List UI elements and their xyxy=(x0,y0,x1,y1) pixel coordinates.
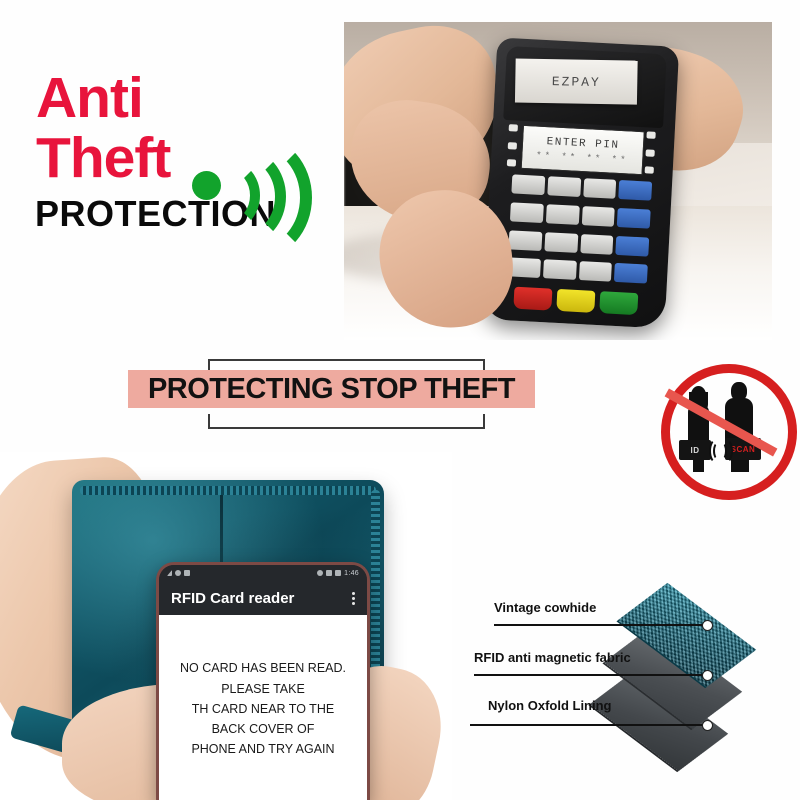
wallet-zipper-top xyxy=(80,486,376,495)
id-bag: ID xyxy=(679,440,711,460)
signal-icon xyxy=(167,570,172,576)
material-layers-diagram: Vintage cowhide RFID anti magnetic fabri… xyxy=(470,578,800,748)
product-infographic: Anti Theft PROTECTION EZPAY ENTER PIN ** xyxy=(0,0,800,800)
receipt-paper: EZPAY xyxy=(515,59,638,105)
rfid-wave-arc-3 xyxy=(204,136,312,259)
banner-title: PROTECTING STOP THEFT xyxy=(128,370,535,408)
smartphone-overlay: 1:46 RFID Card reader NO CARD HAS BEEN R… xyxy=(156,562,370,800)
terminal-lcd-display: ENTER PIN ** ** ** ** xyxy=(521,125,645,175)
leader-line-3 xyxy=(470,724,708,726)
clear-key xyxy=(556,289,595,313)
layer-label-rfid-fabric: RFID anti magnetic fabric xyxy=(474,650,631,665)
screen-message-line: PHONE AND TRY AGAIN xyxy=(191,739,334,759)
terminal-keypad xyxy=(507,174,652,289)
kebab-menu-icon[interactable] xyxy=(352,592,355,605)
wifi-icon xyxy=(326,570,332,576)
screen-message-line: BACK COVER OF xyxy=(212,719,315,739)
leader-dot-3 xyxy=(702,720,713,731)
status-left-icons xyxy=(167,570,190,576)
phone-screen-content: NO CARD HAS BEEN READ. PLEASE TAKE TH CA… xyxy=(159,615,367,800)
screen-message-line: PLEASE TAKE xyxy=(221,679,305,699)
layer-label-nylon: Nylon Oxfold Lining xyxy=(488,698,612,713)
headline-line-anti: Anti xyxy=(36,70,143,127)
terminal-function-keys xyxy=(513,287,638,315)
screen-message-line: NO CARD HAS BEEN READ. xyxy=(180,658,346,678)
app-title: RFID Card reader xyxy=(171,590,294,607)
phone-app-bar: RFID Card reader xyxy=(159,581,367,615)
status-right-icons: 1:46 xyxy=(317,570,359,577)
card-payment-terminal: EZPAY ENTER PIN ** ** ** ** xyxy=(483,37,680,328)
pos-terminal-photo: EZPAY ENTER PIN ** ** ** ** xyxy=(344,22,772,340)
phone-status-bar: 1:46 xyxy=(159,565,367,581)
terminal-softkeys-right xyxy=(645,131,657,173)
battery-icon xyxy=(335,570,341,576)
rfid-wave-icon xyxy=(190,138,295,233)
terminal-softkeys-left xyxy=(507,124,519,166)
leader-dot-1 xyxy=(702,620,713,631)
enter-key xyxy=(599,291,638,315)
scan-wave-right-2 xyxy=(717,438,733,464)
status-time: 1:46 xyxy=(344,570,359,577)
screen-message-line: TH CARD NEAR TO THE xyxy=(192,699,334,719)
lcd-pin-mask: ** ** ** ** xyxy=(536,150,629,165)
app-icon xyxy=(184,570,190,576)
leader-line-1 xyxy=(494,624,708,626)
cancel-key xyxy=(513,287,552,311)
leader-dot-2 xyxy=(702,670,713,681)
id-bag-label: ID xyxy=(691,446,700,455)
lcd-prompt: ENTER PIN xyxy=(546,136,619,152)
leader-line-2 xyxy=(474,674,708,676)
layer-label-cowhide: Vintage cowhide xyxy=(494,600,596,615)
location-icon xyxy=(317,570,323,576)
anti-theft-headline: Anti Theft PROTECTION xyxy=(0,58,340,253)
scan-bag-label: SCAN xyxy=(731,445,756,454)
headline-line-theft: Theft xyxy=(36,130,170,187)
notification-dot-icon xyxy=(175,570,181,576)
no-rfid-scan-icon: ID SCAN xyxy=(655,362,791,492)
receipt-text: EZPAY xyxy=(552,74,601,90)
